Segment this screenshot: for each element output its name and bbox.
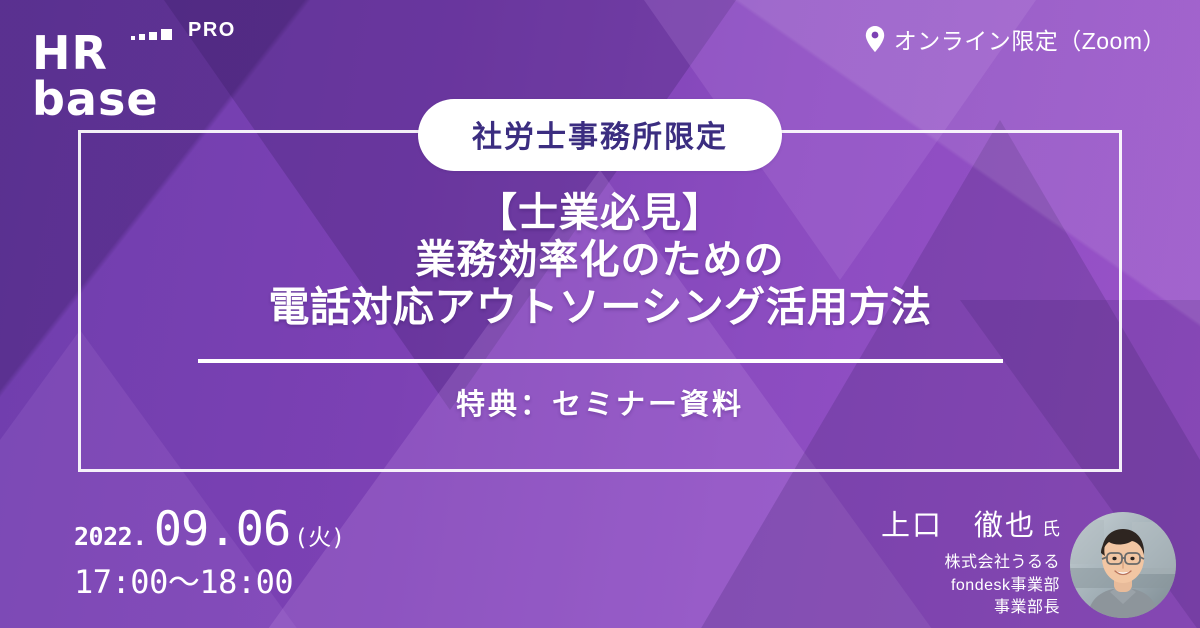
stepped-squares-icon	[131, 26, 172, 40]
schedule-time: 17:00〜18:00	[74, 566, 345, 598]
speaker-honorific: 氏	[1036, 519, 1060, 539]
date-year: 2022.	[74, 524, 147, 549]
speaker-details: 上口 徹也氏 株式会社うるる fondesk事業部 事業部長	[881, 511, 1060, 620]
date-row: 2022. 09.06 (火)	[74, 506, 345, 553]
title-divider	[198, 359, 1003, 363]
speaker-affiliation: 株式会社うるる fondesk事業部 事業部長	[881, 552, 1060, 620]
date-month-day: 09.06	[147, 506, 290, 553]
webinar-banner: HR base PRO オンライン限定（Zoom） 社労士事務所限定 【士業必見…	[0, 0, 1200, 628]
title-line-2: 業務効率化のための	[0, 237, 1200, 284]
logo-wordmark: HR base	[32, 30, 248, 122]
date-day-of-week: (火)	[290, 527, 345, 550]
speaker-name: 上口 徹也	[881, 510, 1036, 542]
speaker-affiliation-line-1: 株式会社うるる	[881, 552, 1060, 575]
bonus-subtitle: 特典：セミナー資料	[0, 381, 1200, 423]
speaker-name-row: 上口 徹也氏	[881, 511, 1060, 543]
speaker-block: 上口 徹也氏 株式会社うるる fondesk事業部 事業部長	[881, 511, 1176, 620]
venue-info: オンライン限定（Zoom）	[865, 22, 1166, 56]
hrbase-pro-logo: HR base PRO	[28, 12, 248, 78]
venue-label: オンライン限定（Zoom）	[894, 22, 1166, 56]
title-line-3: 電話対応アウトソーシング活用方法	[0, 284, 1200, 332]
title-line-1: 【士業必見】	[0, 190, 1200, 237]
speaker-affiliation-line-3: 事業部長	[881, 597, 1060, 620]
schedule-block: 2022. 09.06 (火) 17:00〜18:00	[74, 506, 345, 598]
target-audience-badge: 社労士事務所限定	[418, 99, 782, 171]
location-pin-icon	[865, 26, 885, 52]
speaker-affiliation-line-2: fondesk事業部	[881, 575, 1060, 598]
speaker-portrait	[1070, 512, 1176, 618]
logo-pro-label: PRO	[188, 20, 236, 40]
seminar-title: 【士業必見】 業務効率化のための 電話対応アウトソーシング活用方法	[0, 190, 1200, 332]
